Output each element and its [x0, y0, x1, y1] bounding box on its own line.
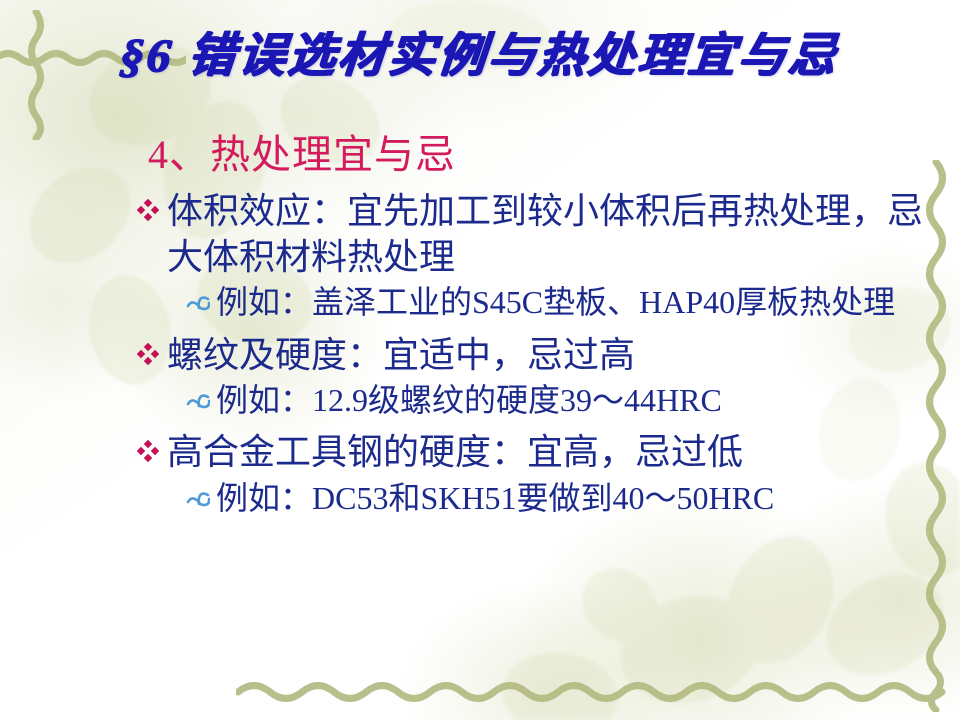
bullet-text: 体积效应：宜先加工到较小体积后再热处理，忌大体积材料热处理	[167, 188, 942, 280]
bullet-item-level1: 高合金工具钢的硬度：宜高，忌过低	[0, 429, 960, 475]
bullet-text: 例如：12.9级螺纹的硬度39～44HRC	[216, 380, 942, 422]
swirl-bullet-icon	[186, 380, 216, 412]
slide-canvas: §6 错误选材实例与热处理宜与忌 4、热处理宜与忌 体积效应：宜先加工到较小体积…	[0, 0, 960, 720]
bullet-item-level1: 螺纹及硬度：宜适中，忌过高	[0, 332, 960, 378]
diamond-bullet-icon	[137, 332, 167, 365]
section-heading: 4、热处理宜与忌	[148, 132, 456, 177]
bullet-item-level2: 例如：盖泽工业的S45C垫板、HAP40厚板热处理	[0, 282, 960, 324]
bullet-item-level2: 例如：DC53和SKH51要做到40～50HRC	[0, 478, 960, 520]
diamond-bullet-icon	[137, 188, 167, 221]
section-heading-row: 4、热处理宜与忌	[0, 122, 960, 180]
bullet-item-level2: 例如：12.9级螺纹的硬度39～44HRC	[0, 380, 960, 422]
swirl-bullet-icon	[186, 478, 216, 510]
bullet-text: 例如：DC53和SKH51要做到40～50HRC	[216, 478, 942, 520]
diamond-bullet-icon	[137, 429, 167, 462]
slide-title-bar: §6 错误选材实例与热处理宜与忌	[0, 16, 960, 85]
slide-body: 4、热处理宜与忌 体积效应：宜先加工到较小体积后再热处理，忌大体积材料热处理	[0, 122, 960, 519]
bullet-text: 例如：盖泽工业的S45C垫板、HAP40厚板热处理	[216, 282, 942, 324]
slide-title: §6 错误选材实例与热处理宜与忌	[118, 16, 842, 85]
bullet-item-level1: 体积效应：宜先加工到较小体积后再热处理，忌大体积材料热处理	[0, 188, 960, 280]
bullet-text: 高合金工具钢的硬度：宜高，忌过低	[167, 429, 942, 475]
vine-horizontal-bottom	[236, 672, 960, 712]
swirl-bullet-icon	[186, 282, 216, 314]
bullet-text: 螺纹及硬度：宜适中，忌过高	[167, 332, 942, 378]
